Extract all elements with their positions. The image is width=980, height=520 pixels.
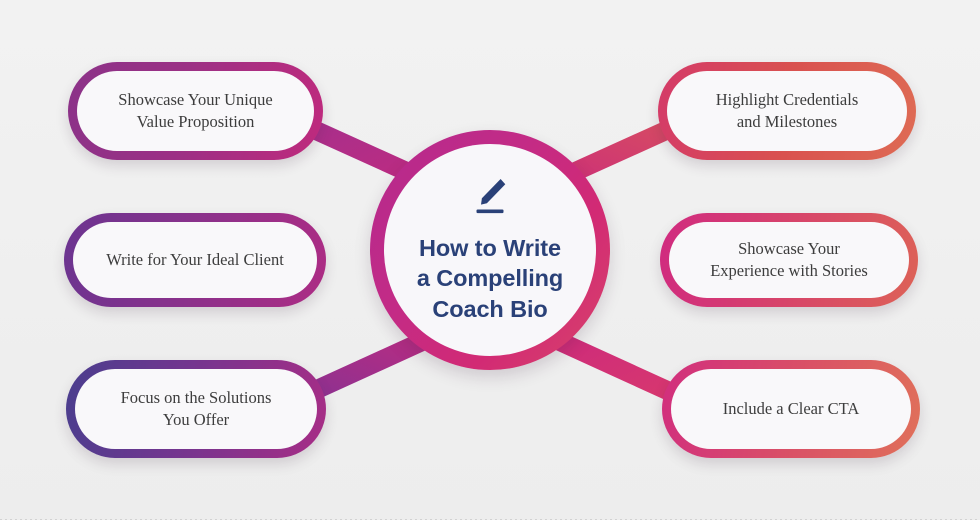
center-title: How to Write a Compelling Coach Bio bbox=[417, 233, 563, 325]
node-label: Showcase Your Experience with Stories bbox=[710, 238, 868, 282]
node-inner: Showcase Your Experience with Stories bbox=[669, 222, 909, 298]
node-label: Write for Your Ideal Client bbox=[106, 249, 284, 271]
connector-bottom-right bbox=[550, 337, 675, 394]
node-label: Include a Clear CTA bbox=[723, 398, 860, 420]
node-label: Showcase Your Unique Value Proposition bbox=[118, 89, 272, 133]
node-label: Highlight Credentials and Milestones bbox=[716, 89, 859, 133]
node-highlight-credentials[interactable]: Highlight Credentials and Milestones bbox=[658, 62, 916, 160]
node-label: Focus on the Solutions You Offer bbox=[121, 387, 272, 431]
node-inner: Focus on the Solutions You Offer bbox=[75, 369, 317, 449]
node-showcase-unique-value-proposition[interactable]: Showcase Your Unique Value Proposition bbox=[68, 62, 323, 160]
node-inner: Include a Clear CTA bbox=[671, 369, 911, 449]
mindmap-canvas: How to Write a Compelling Coach Bio Show… bbox=[0, 0, 980, 520]
connector-bottom-left bbox=[307, 337, 432, 394]
node-include-clear-cta[interactable]: Include a Clear CTA bbox=[662, 360, 920, 458]
node-inner: Showcase Your Unique Value Proposition bbox=[77, 71, 314, 151]
pencil-write-icon bbox=[470, 176, 510, 222]
node-inner: Write for Your Ideal Client bbox=[73, 222, 317, 298]
node-write-for-ideal-client[interactable]: Write for Your Ideal Client bbox=[64, 213, 326, 307]
node-showcase-experience-stories[interactable]: Showcase Your Experience with Stories bbox=[660, 213, 918, 307]
node-focus-on-solutions[interactable]: Focus on the Solutions You Offer bbox=[66, 360, 326, 458]
node-inner: Highlight Credentials and Milestones bbox=[667, 71, 907, 151]
center-node-inner: How to Write a Compelling Coach Bio bbox=[384, 144, 596, 356]
center-node[interactable]: How to Write a Compelling Coach Bio bbox=[370, 130, 610, 370]
